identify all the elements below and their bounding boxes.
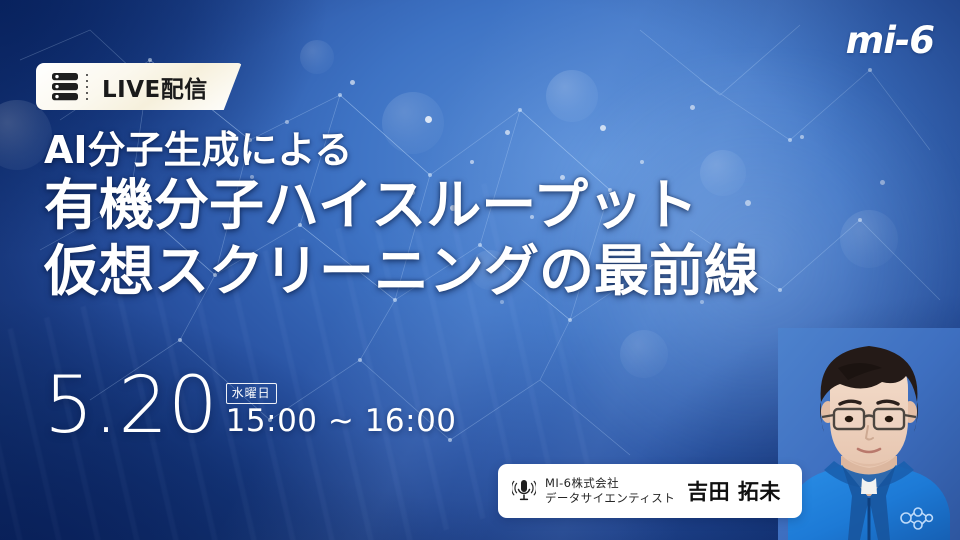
live-badge: LIVE配信 [36,63,242,110]
live-badge-label: LIVE配信 [102,70,208,104]
headline-block: AI分子生成による 有機分子ハイスループット 仮想スクリーニングの最前線 [44,130,759,302]
headline-line-1: 有機分子ハイスループット [44,175,759,237]
headline-line-2: 仮想スクリーニングの最前線 [44,241,759,303]
speaker-name: 吉田 拓未 [687,476,781,506]
microphone-icon [512,478,536,504]
event-date: 5.20 [44,372,218,441]
dotted-divider [86,73,88,100]
webinar-banner: mi-6 LIVE配信 AI分子生成による 有機分子ハイスループット 仮想スクリ… [0,0,960,540]
event-time-range: 15:00 ~ 16:00 [226,406,457,437]
headline-subtitle: AI分子生成による [44,130,759,171]
speaker-badge: MI-6株式会社 データサイエンティスト 吉田 拓未 [498,464,802,518]
mi6-logo[interactable]: mi-6 [846,22,934,59]
time-column: 水曜日 15:00 ~ 16:00 [226,383,457,441]
speaker-company: MI-6株式会社 [545,476,675,491]
weekday-badge: 水曜日 [226,383,277,404]
schedule-block: 5.20 水曜日 15:00 ~ 16:00 [44,372,457,441]
speaker-portrait [778,328,960,540]
speaker-role: データサイエンティスト [545,491,675,506]
server-stack-icon [52,72,78,102]
speaker-affiliation: MI-6株式会社 データサイエンティスト [545,476,675,505]
